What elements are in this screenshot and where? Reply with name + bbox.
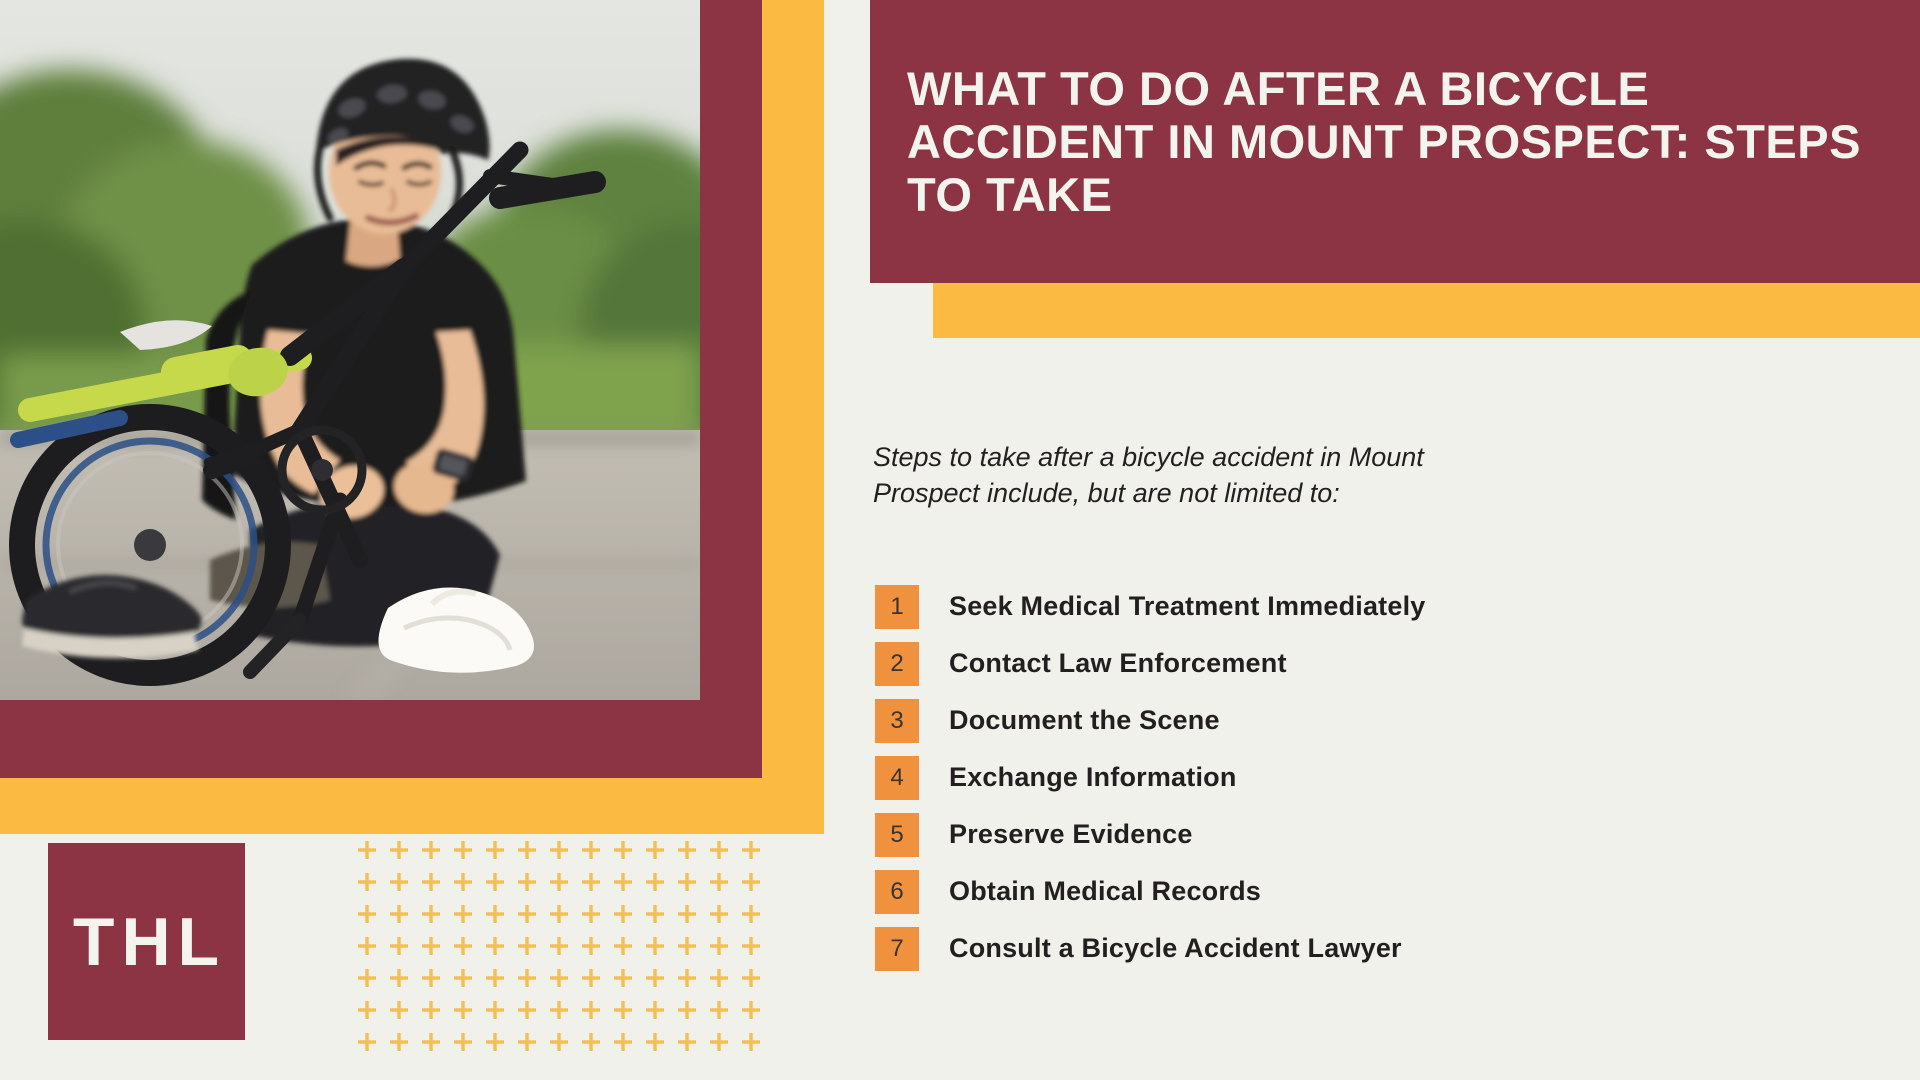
title-block: What to do After a Bicycle Accident in M…: [870, 0, 1920, 283]
step-number-badge: 7: [875, 927, 919, 971]
step-label: Exchange Information: [949, 762, 1237, 793]
step-row: 4Exchange Information: [875, 749, 1775, 806]
step-number-badge: 6: [875, 870, 919, 914]
step-number-badge: 2: [875, 642, 919, 686]
photo-frame-yellow-vertical-band: [762, 0, 824, 778]
step-number-badge: 1: [875, 585, 919, 629]
intro-paragraph: Steps to take after a bicycle accident i…: [873, 440, 1533, 512]
left-column: THL: [0, 0, 820, 1080]
thl-logo-text: THL: [67, 908, 226, 976]
step-row: 3Document the Scene: [875, 692, 1775, 749]
plus-pattern-decoration: [355, 838, 810, 1068]
step-label: Obtain Medical Records: [949, 876, 1261, 907]
step-label: Seek Medical Treatment Immediately: [949, 591, 1426, 622]
step-label: Contact Law Enforcement: [949, 648, 1287, 679]
step-label: Preserve Evidence: [949, 819, 1193, 850]
page-title: What to do After a Bicycle Accident in M…: [870, 62, 1920, 221]
photo-frame-yellow-horizontal-band: [0, 778, 824, 834]
right-column: What to do After a Bicycle Accident in M…: [820, 0, 1920, 1080]
step-row: 6Obtain Medical Records: [875, 863, 1775, 920]
steps-list: 1Seek Medical Treatment Immediately2Cont…: [875, 578, 1775, 977]
step-number-badge: 5: [875, 813, 919, 857]
bicycle-accident-photo: [0, 0, 700, 700]
infographic-canvas: THL What to do After a Bicycle Accident …: [0, 0, 1920, 1080]
step-row: 1Seek Medical Treatment Immediately: [875, 578, 1775, 635]
step-label: Consult a Bicycle Accident Lawyer: [949, 933, 1402, 964]
step-row: 5Preserve Evidence: [875, 806, 1775, 863]
step-row: 2Contact Law Enforcement: [875, 635, 1775, 692]
step-number-badge: 4: [875, 756, 919, 800]
thl-logo: THL: [48, 843, 245, 1040]
step-label: Document the Scene: [949, 705, 1220, 736]
step-row: 7Consult a Bicycle Accident Lawyer: [875, 920, 1775, 977]
title-accent-bar: [933, 283, 1920, 338]
step-number-badge: 3: [875, 699, 919, 743]
